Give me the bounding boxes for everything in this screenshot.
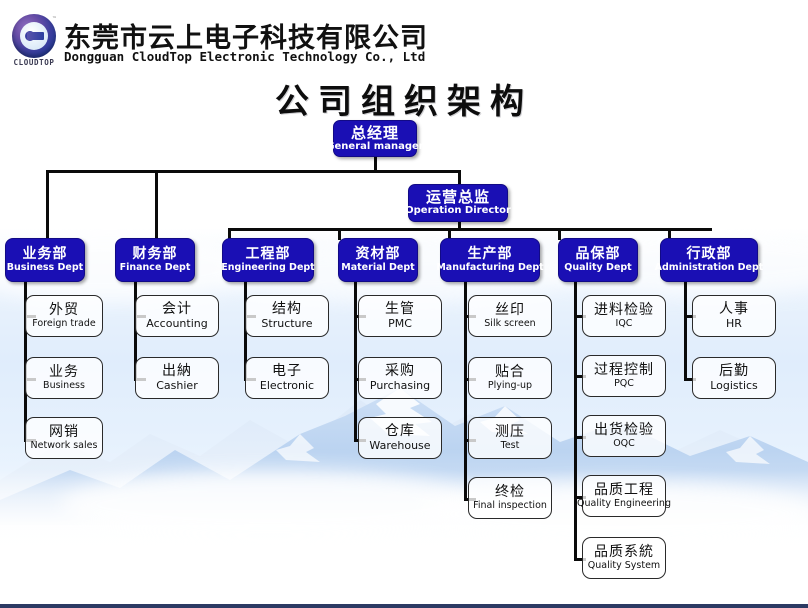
node-label-en: Logistics <box>710 380 758 392</box>
page-title: 公司组织架构 <box>0 74 808 123</box>
logo-bar-icon <box>27 32 44 40</box>
node-leaf-silk-screen[interactable]: 丝印 Silk screen <box>468 295 552 337</box>
connector-gm-finance <box>155 170 158 238</box>
node-label-en: Administration Dept <box>655 263 764 273</box>
node-label-en: Network sales <box>31 441 98 451</box>
node-label-en: Purchasing <box>370 380 430 392</box>
node-label-en: Test <box>501 441 520 451</box>
node-leaf-business[interactable]: 业务 Business <box>25 357 103 399</box>
node-label-cn: 品保部 <box>576 247 621 262</box>
node-dept-material[interactable]: 资材部 Material Dept <box>338 238 418 282</box>
node-label-cn: 后勤 <box>719 364 749 379</box>
node-leaf-network-sales[interactable]: 网销 Network sales <box>25 417 103 459</box>
node-dept-finance[interactable]: 财务部 Finance Dept <box>115 238 195 282</box>
node-label-en: General manager <box>326 142 423 153</box>
node-leaf-pmc[interactable]: 生管 PMC <box>358 295 442 337</box>
org-chart-slide: ™ CLOUDTOP 东莞市云上电子科技有限公司 Dongguan CloudT… <box>0 0 808 608</box>
node-label-cn: 出货检验 <box>594 423 654 438</box>
node-label-cn: 贴合 <box>495 365 525 380</box>
node-label-en: Manufacturing Dept <box>436 263 543 273</box>
node-leaf-plying-up[interactable]: 贴合 Plying-up <box>468 357 552 399</box>
bottom-rule <box>0 604 808 608</box>
node-label-en: PQC <box>614 379 634 389</box>
node-label-en: Foreign trade <box>32 319 96 329</box>
node-label-cn: 生产部 <box>468 247 513 262</box>
node-label-cn: 工程部 <box>246 247 291 262</box>
spine-quality <box>574 282 577 561</box>
node-operation-director[interactable]: 运营总监 Operation Director <box>408 184 508 222</box>
spine-administration <box>684 282 687 381</box>
node-label-cn: 电子 <box>272 364 302 379</box>
node-dept-administration[interactable]: 行政部 Administration Dept <box>660 238 758 282</box>
node-general-manager[interactable]: 总经理 General manager <box>333 120 417 157</box>
node-label-cn: 行政部 <box>687 247 732 262</box>
node-label-cn: 会计 <box>162 302 192 317</box>
node-leaf-cashier[interactable]: 出納 Cashier <box>135 357 219 399</box>
connector-gm-business <box>46 170 49 238</box>
node-dept-manufacturing[interactable]: 生产部 Manufacturing Dept <box>440 238 540 282</box>
node-label-en: Business <box>43 381 85 391</box>
node-label-cn: 测压 <box>495 425 525 440</box>
logo-wordmark: CLOUDTOP <box>6 58 62 67</box>
node-label-cn: 丝印 <box>495 303 525 318</box>
node-label-en: Business Dept <box>7 263 83 273</box>
node-label-en: Quality Engineering <box>577 499 671 509</box>
node-label-cn: 品质系統 <box>594 545 654 560</box>
node-leaf-hr[interactable]: 人事 HR <box>692 295 776 337</box>
node-label-en: PMC <box>388 318 412 330</box>
node-label-en: Final inspection <box>473 501 547 511</box>
node-label-cn: 终检 <box>495 485 525 500</box>
spine-material <box>354 282 357 442</box>
node-leaf-foreign-trade[interactable]: 外贸 Foreign trade <box>25 295 103 337</box>
node-label-cn: 过程控制 <box>594 363 654 378</box>
connector-op-quality <box>558 228 561 240</box>
company-name-en: Dongguan CloudTop Electronic Technology … <box>64 49 425 64</box>
node-label-en: Silk screen <box>484 319 535 329</box>
node-leaf-accounting[interactable]: 会计 Accounting <box>135 295 219 337</box>
node-label-en: Operation Director <box>405 206 511 217</box>
node-leaf-test[interactable]: 测压 Test <box>468 417 552 459</box>
node-label-cn: 总经理 <box>351 125 399 141</box>
node-leaf-structure[interactable]: 结构 Structure <box>245 295 329 337</box>
cloud-blob <box>60 470 480 540</box>
node-label-en: Material Dept <box>341 263 414 273</box>
node-leaf-logistics[interactable]: 后勤 Logistics <box>692 357 776 399</box>
node-label-en: HR <box>726 318 742 330</box>
node-label-cn: 品质工程 <box>594 483 654 498</box>
node-label-cn: 资材部 <box>356 247 401 262</box>
node-leaf-electronic[interactable]: 电子 Electronic <box>245 357 329 399</box>
connector-gm-bar <box>46 170 460 173</box>
node-label-cn: 外贸 <box>49 303 79 318</box>
trademark-symbol: ™ <box>52 16 57 22</box>
connector-op-material <box>338 228 341 240</box>
node-label-cn: 业务 <box>49 365 79 380</box>
node-label-cn: 结构 <box>272 302 302 317</box>
node-label-cn: 业务部 <box>23 247 68 262</box>
node-leaf-oqc[interactable]: 出货检验 OQC <box>582 415 666 457</box>
node-dept-engineering[interactable]: 工程部 Engineering Dept <box>222 238 314 282</box>
node-label-cn: 进料检验 <box>594 303 654 318</box>
node-label-en: Engineering Dept <box>221 263 314 273</box>
node-label-cn: 运营总监 <box>426 189 490 205</box>
node-leaf-quality-system[interactable]: 品质系統 Quality System <box>582 537 666 579</box>
node-leaf-warehouse[interactable]: 仓库 Warehouse <box>358 417 442 459</box>
node-label-en: Plying-up <box>488 381 532 391</box>
node-label-en: Quality Dept <box>564 263 631 273</box>
node-leaf-final-inspection[interactable]: 终检 Final inspection <box>468 477 552 519</box>
node-leaf-iqc[interactable]: 进料检验 IQC <box>582 295 666 337</box>
node-label-cn: 生管 <box>385 302 415 317</box>
node-label-en: Accounting <box>146 318 207 330</box>
node-label-en: IQC <box>616 319 633 329</box>
node-label-cn: 人事 <box>719 302 749 317</box>
node-label-en: Quality System <box>588 561 660 571</box>
node-label-cn: 采购 <box>385 364 415 379</box>
node-leaf-quality-engineering[interactable]: 品质工程 Quality Engineering <box>582 475 666 517</box>
node-label-cn: 财务部 <box>133 247 178 262</box>
node-label-cn: 网销 <box>49 425 79 440</box>
node-leaf-purchasing[interactable]: 采购 Purchasing <box>358 357 442 399</box>
connector-op-bar <box>228 228 712 231</box>
node-label-cn: 仓库 <box>385 424 415 439</box>
node-label-cn: 出納 <box>162 364 192 379</box>
node-label-en: Structure <box>261 318 312 330</box>
node-dept-business[interactable]: 业务部 Business Dept <box>5 238 85 282</box>
node-label-en: OQC <box>613 439 635 449</box>
node-dept-quality[interactable]: 品保部 Quality Dept <box>558 238 638 282</box>
node-label-en: Finance Dept <box>120 263 191 273</box>
node-label-en: Warehouse <box>369 440 430 452</box>
node-label-en: Cashier <box>156 380 197 392</box>
bottom-white-strip <box>0 558 808 604</box>
cloudtop-logo: ™ CLOUDTOP <box>6 14 62 66</box>
node-label-en: Electronic <box>260 380 314 392</box>
node-leaf-pqc[interactable]: 过程控制 PQC <box>582 355 666 397</box>
